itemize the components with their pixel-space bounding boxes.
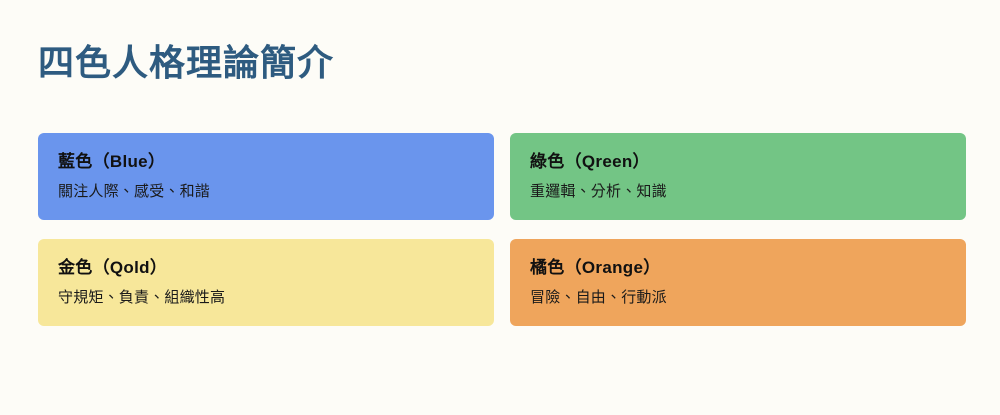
card-title-blue: 藍色（Blue）	[58, 151, 474, 173]
card-description-gold: 守規矩、負責、組織性高	[58, 288, 474, 308]
personality-card-orange[interactable]: 橘色（Orange） 冒險、自由、行動派	[510, 239, 966, 326]
page-title: 四色人格理論簡介	[38, 40, 334, 85]
card-title-green: 綠色（Qreen）	[530, 151, 946, 173]
card-description-blue: 關注人際、感受、和諧	[58, 182, 474, 202]
personality-card-green[interactable]: 綠色（Qreen） 重邏輯、分析、知識	[510, 133, 966, 220]
card-title-orange: 橘色（Orange）	[530, 257, 946, 279]
card-description-orange: 冒險、自由、行動派	[530, 288, 946, 308]
personality-card-blue[interactable]: 藍色（Blue） 關注人際、感受、和諧	[38, 133, 494, 220]
personality-color-card-grid: 藍色（Blue） 關注人際、感受、和諧 綠色（Qreen） 重邏輯、分析、知識 …	[38, 133, 962, 326]
personality-card-gold[interactable]: 金色（Qold） 守規矩、負責、組織性高	[38, 239, 494, 326]
card-title-gold: 金色（Qold）	[58, 257, 474, 279]
card-description-green: 重邏輯、分析、知識	[530, 182, 946, 202]
slide-root: 四色人格理論簡介 藍色（Blue） 關注人際、感受、和諧 綠色（Qreen） 重…	[0, 0, 1000, 415]
